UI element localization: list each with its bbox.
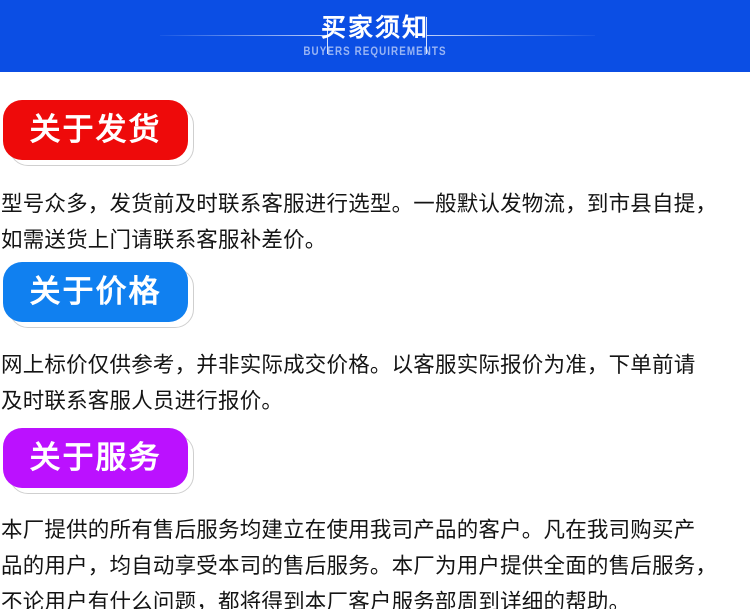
section-badge-service: 关于服务 bbox=[3, 428, 199, 498]
page-subtitle: BUYERS REQUIREMENTS bbox=[68, 44, 683, 58]
page-title: 买家须知 bbox=[0, 14, 750, 43]
badge-label-price: 关于价格 bbox=[30, 276, 162, 309]
section-badge-shipping: 关于发货 bbox=[3, 100, 199, 170]
section-text-price: 网上标价仅供参考，并非实际成交价格。以客服实际报价为准，下单前请 及时联系客服人… bbox=[1, 347, 750, 419]
badge-fill-price: 关于价格 bbox=[3, 262, 188, 322]
paragraph-line: 型号众多，发货前及时联系客服进行选型。一般默认发物流，到市县自提， bbox=[1, 186, 750, 222]
paragraph-line: 品的用户，均自动享受本司的售后服务。本厂为用户提供全面的售后服务， bbox=[1, 548, 750, 584]
paragraph-line: 不论用户有什么问题，都将得到本厂客户服务部周到详细的帮助。 bbox=[1, 584, 750, 609]
badge-fill-service: 关于服务 bbox=[3, 428, 188, 488]
paragraph-line: 本厂提供的所有售后服务均建立在使用我司产品的客户。凡在我司购买产 bbox=[1, 512, 750, 548]
buyers-requirements-page: 买家须知 BUYERS REQUIREMENTS 关于发货 型号众多，发货前及时… bbox=[0, 0, 750, 609]
section-badge-price: 关于价格 bbox=[3, 262, 199, 332]
badge-label-service: 关于服务 bbox=[30, 442, 162, 475]
section-text-service: 本厂提供的所有售后服务均建立在使用我司产品的客户。凡在我司购买产 品的用户，均自… bbox=[1, 512, 750, 609]
badge-fill-shipping: 关于发货 bbox=[3, 100, 188, 160]
paragraph-line: 如需送货上门请联系客服补差价。 bbox=[1, 222, 750, 258]
section-text-shipping: 型号众多，发货前及时联系客服进行选型。一般默认发物流，到市县自提， 如需送货上门… bbox=[1, 186, 750, 258]
badge-label-shipping: 关于发货 bbox=[30, 114, 162, 147]
paragraph-line: 网上标价仅供参考，并非实际成交价格。以客服实际报价为准，下单前请 bbox=[1, 347, 750, 383]
page-header-banner: 买家须知 BUYERS REQUIREMENTS bbox=[0, 0, 750, 72]
paragraph-line: 及时联系客服人员进行报价。 bbox=[1, 383, 750, 419]
